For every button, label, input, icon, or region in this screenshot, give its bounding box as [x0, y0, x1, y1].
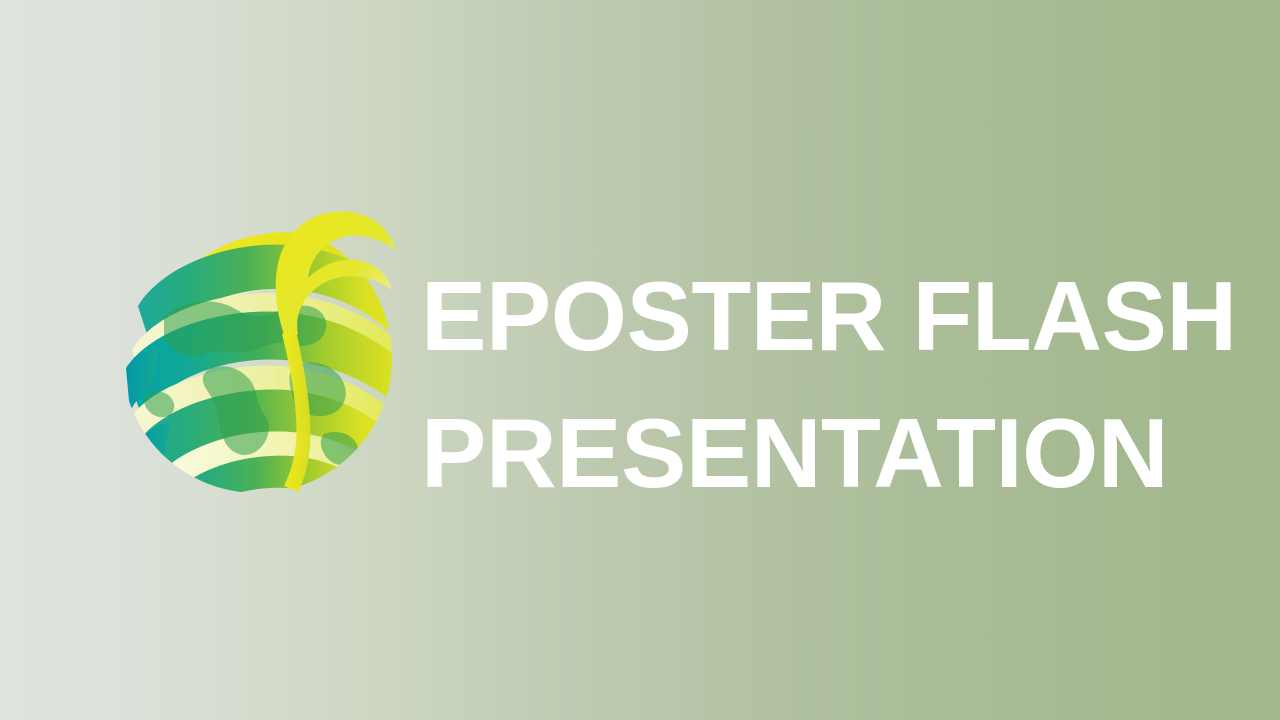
page-title: EPOSTER FLASH PRESENTATION — [421, 248, 1221, 522]
page-title-line-2: PRESENTATION — [421, 385, 1221, 522]
page-title-line-1: EPOSTER FLASH — [421, 248, 1221, 385]
title-slide: EPOSTER FLASH PRESENTATION — [0, 0, 1280, 720]
ribbon-end-teal-2 — [138, 422, 170, 482]
spiral-ribbon-globe-logo — [112, 198, 412, 518]
globe-ribbons — [112, 198, 412, 518]
